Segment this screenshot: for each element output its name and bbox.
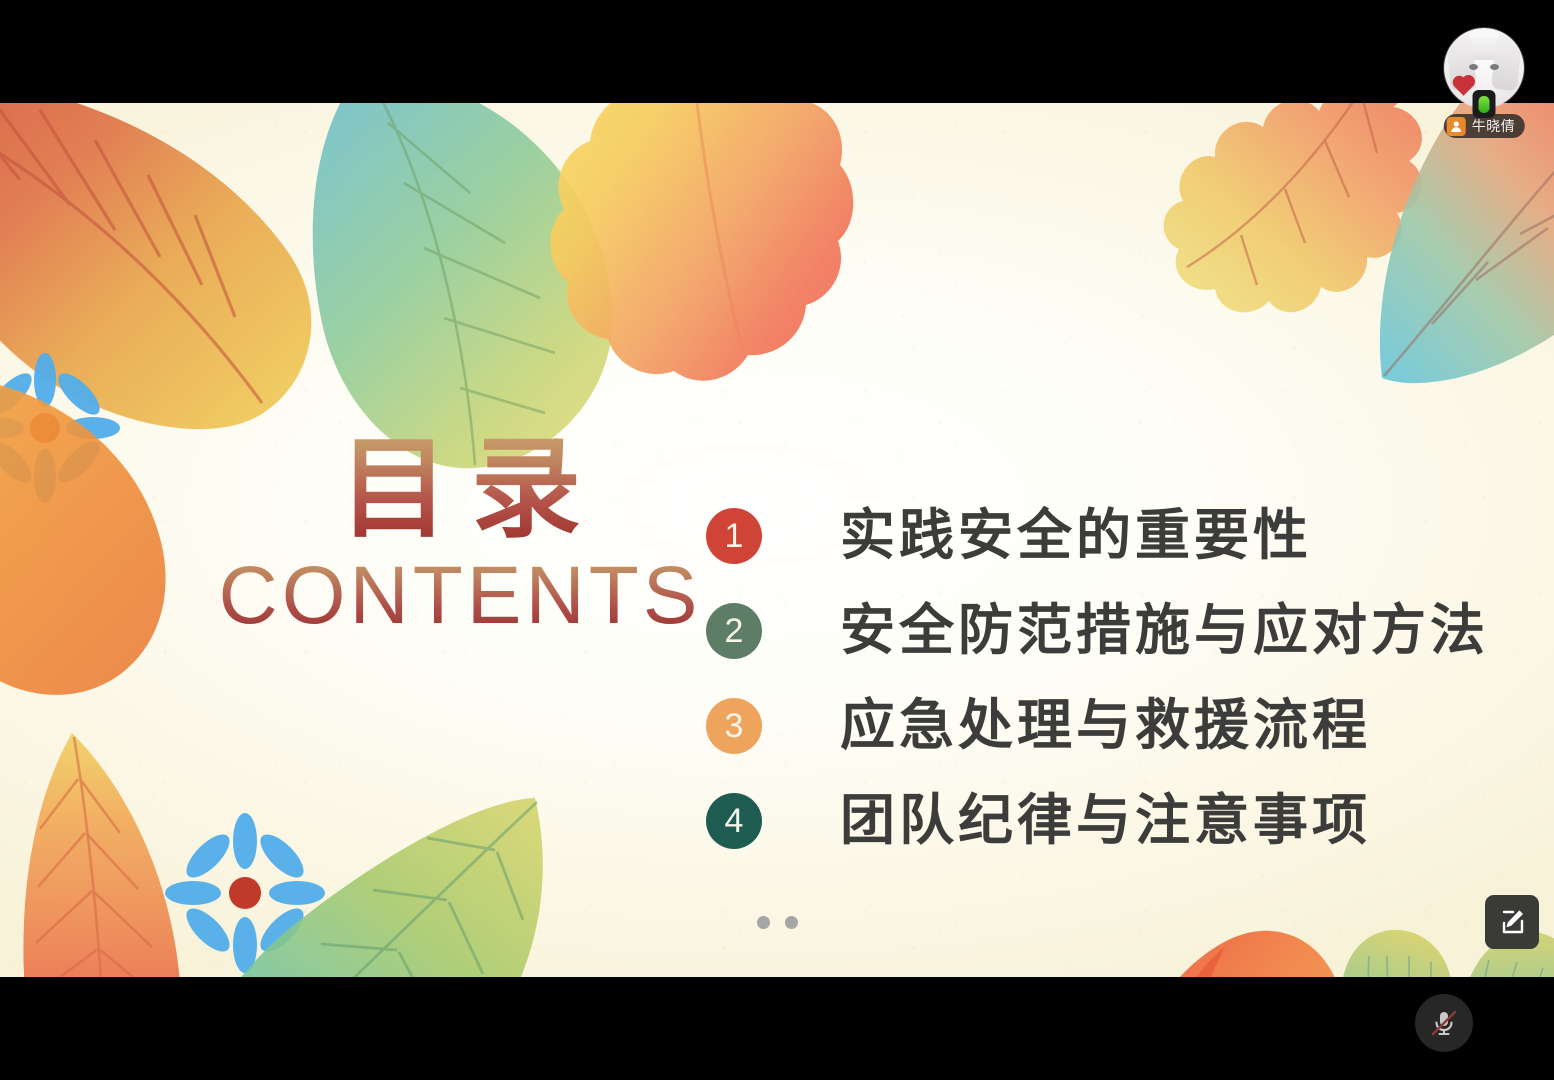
microphone-muted-icon [1427,1006,1461,1040]
toc-number-badge-2: 2 [706,603,762,659]
toc-number-badge-1: 1 [706,508,762,564]
toc-item-1[interactable]: 1 实践安全的重要性 [706,488,1489,583]
presenter-name: 牛晓倩 [1472,119,1516,133]
leaf-decoration-top-right-oak [1165,103,1455,393]
toc-item-3[interactable]: 3 应急处理与救援流程 [706,678,1489,773]
screen-share-viewer: 目录 CONTENTS 1 实践安全的重要性 2 安全防范措施与应对方法 3 应… [0,0,1554,1080]
annotate-button[interactable] [1485,895,1539,949]
table-of-contents: 1 实践安全的重要性 2 安全防范措施与应对方法 3 应急处理与救援流程 4 团… [706,488,1489,868]
leaf-decoration-bottom-left-green [205,818,565,977]
leaf-decoration-top-center-coral [540,103,870,403]
slide-title-cn: 目录 [180,433,740,549]
slide-title-en: CONTENTS [180,555,740,637]
microphone-mute-button[interactable] [1415,994,1473,1052]
toc-label-4: 团队纪律与注意事项 [840,793,1371,848]
toc-label-3: 应急处理与救援流程 [840,698,1371,753]
mic-active-icon [1473,90,1496,118]
person-icon [1447,117,1466,136]
presenter-self-view[interactable]: 牛晓倩 [1436,28,1532,138]
flower-decoration-left-upper [0,353,120,503]
pen-annotate-icon [1497,907,1527,937]
pagination-dot-2[interactable] [785,916,798,929]
flower-decoration-lower-left [165,813,325,973]
toc-label-2: 安全防范措施与应对方法 [840,603,1489,658]
toc-number-badge-4: 4 [706,793,762,849]
toc-label-1: 实践安全的重要性 [840,508,1312,563]
pagination-dot-1[interactable] [757,916,770,929]
bottom-control-bar [0,977,1554,1080]
toc-number-badge-3: 3 [706,698,762,754]
leaf-decoration-top-right-blue-red [1370,103,1554,398]
toc-item-4[interactable]: 4 团队纪律与注意事项 [706,773,1489,868]
toc-item-2[interactable]: 2 安全防范措施与应对方法 [706,583,1489,678]
leaf-decoration-left-lower-veined [10,733,220,977]
leaf-decoration-bottom-right-orange [1125,923,1385,977]
presentation-slide[interactable]: 目录 CONTENTS 1 实践安全的重要性 2 安全防范措施与应对方法 3 应… [0,103,1554,977]
top-letterbox-bar [0,0,1554,103]
slide-title-block: 目录 CONTENTS [180,433,740,637]
slide-pagination-dots[interactable] [0,916,1554,929]
